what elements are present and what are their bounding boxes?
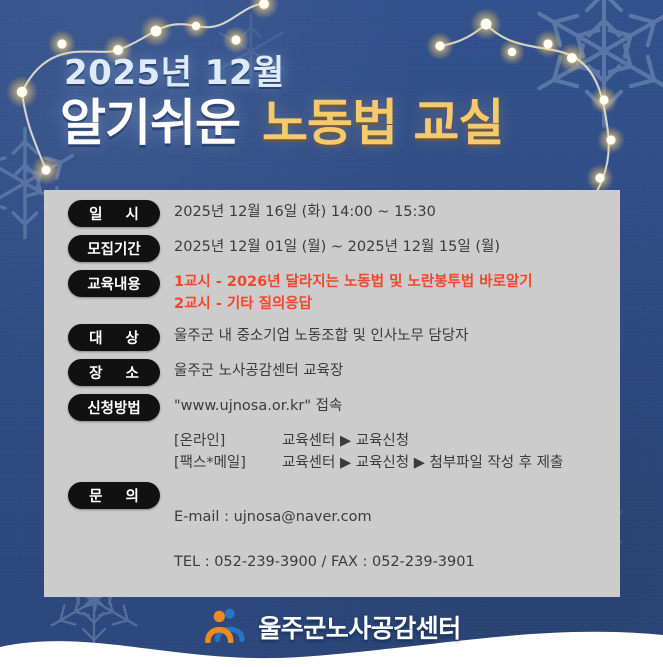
apply-method-fax-mail-path: 교육센터 ▶ 교육신청 ▶ 첨부파일 작성 후 제출 xyxy=(282,453,610,475)
apply-method-online-tag: [온라인] xyxy=(174,431,282,453)
info-label-apply-method: 신청방법 xyxy=(68,394,160,421)
info-label-curriculum: 교육내용 xyxy=(68,270,160,297)
poster-footer: 울주군노사공감센터 xyxy=(0,597,663,667)
info-rows: 일 시 2025년 12월 16일 (화) 14:00 ~ 15:30 모집기간… xyxy=(68,198,610,602)
poster-title-block: 2025년 12월 알기쉬운노동법 교실 xyxy=(0,56,663,148)
info-label-contact: 문 의 xyxy=(68,482,160,509)
info-row-datetime: 일 시 2025년 12월 16일 (화) 14:00 ~ 15:30 xyxy=(68,198,610,227)
title-month: 2025년 12월 xyxy=(64,56,663,90)
apply-method-fax-mail-tag: [팩스*메일] xyxy=(174,453,282,475)
info-row-application-period: 모집기간 2025년 12월 01일 (월) ~ 2025년 12월 15일 (… xyxy=(68,233,610,262)
info-value-apply-url: "www.ujnosa.or.kr" 접속 xyxy=(174,392,342,417)
info-row-audience: 대 상 울주군 내 중소기업 노동조합 및 인사노무 담당자 xyxy=(68,322,610,351)
apply-method-fax-mail: [팩스*메일] 교육센터 ▶ 교육신청 ▶ 첨부파일 작성 후 제출 xyxy=(174,453,610,475)
two-people-logo-icon xyxy=(202,607,246,647)
info-value-curriculum: 1교시 - 2026년 달라지는 노동법 및 노란봉투법 바로알기 2교시 - … xyxy=(174,268,533,316)
contact-email: E-mail : ujnosa@naver.com xyxy=(174,506,475,528)
info-row-apply-method: 신청방법 "www.ujnosa.or.kr" 접속 xyxy=(68,392,610,421)
info-row-curriculum: 교육내용 1교시 - 2026년 달라지는 노동법 및 노란봉투법 바로알기 2… xyxy=(68,268,610,316)
info-panel: 일 시 2025년 12월 16일 (화) 14:00 ~ 15:30 모집기간… xyxy=(44,190,620,597)
info-label-venue: 장 소 xyxy=(68,359,160,386)
title-main-white: 알기쉬운 xyxy=(60,94,240,152)
info-row-contact: 문 의 E-mail : ujnosa@naver.com TEL : 052-… xyxy=(68,480,610,595)
info-label-application-period: 모집기간 xyxy=(68,235,160,262)
info-label-audience: 대 상 xyxy=(68,324,160,351)
info-value-audience: 울주군 내 중소기업 노동조합 및 인사노무 담당자 xyxy=(174,322,468,347)
footer-org-name: 울주군노사공감센터 xyxy=(258,609,461,645)
poster-root: 2025년 12월 알기쉬운노동법 교실 일 시 2025년 12월 16일 (… xyxy=(0,0,663,667)
footer-logo-group: 울주군노사공감센터 xyxy=(202,607,461,647)
contact-tel-fax: TEL : 052-239-3900 / FAX : 052-239-3901 xyxy=(174,551,475,573)
apply-method-details: [온라인] 교육센터 ▶ 교육신청 [팩스*메일] 교육센터 ▶ 교육신청 ▶ … xyxy=(174,431,610,475)
info-label-datetime: 일 시 xyxy=(68,200,160,227)
apply-method-online-path: 교육센터 ▶ 교육신청 xyxy=(282,431,610,453)
title-main-gold: 노동법 교실 xyxy=(262,94,503,152)
info-value-datetime: 2025년 12월 16일 (화) 14:00 ~ 15:30 xyxy=(174,198,436,223)
title-main: 알기쉬운노동법 교실 xyxy=(60,98,663,148)
apply-method-online: [온라인] 교육센터 ▶ 교육신청 xyxy=(174,431,610,453)
info-value-contact: E-mail : ujnosa@naver.com TEL : 052-239-… xyxy=(174,480,475,595)
info-row-venue: 장 소 울주군 노사공감센터 교육장 xyxy=(68,357,610,386)
info-value-venue: 울주군 노사공감센터 교육장 xyxy=(174,357,343,382)
info-value-application-period: 2025년 12월 01일 (월) ~ 2025년 12월 15일 (월) xyxy=(174,233,500,258)
